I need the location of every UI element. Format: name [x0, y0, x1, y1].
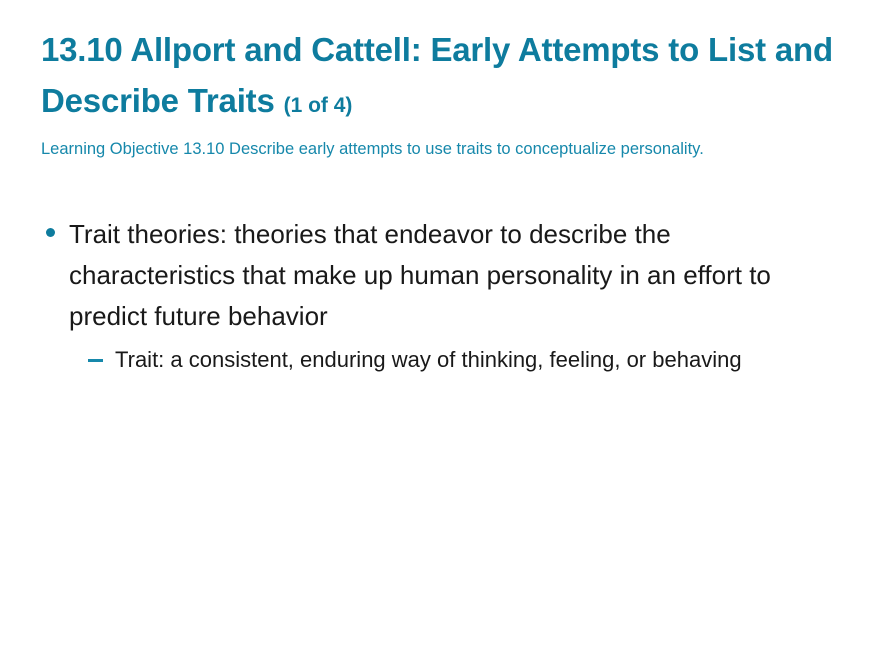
dot-bullet-icon [46, 228, 55, 237]
slide-count-label: (1 of 4) [284, 94, 353, 117]
learning-objective-text: Learning Objective 13.10 Describe early … [41, 136, 813, 163]
list-item: Trait: a consistent, enduring way of thi… [41, 343, 841, 378]
list-item-label: Trait: a consistent, enduring way of thi… [115, 343, 823, 378]
page-title-text: 13.10 Allport and Cattell: Early Attempt… [41, 31, 842, 119]
list-item-label: Trait theories: theories that endeavor t… [69, 214, 829, 337]
slide-canvas: 13.10 Allport and Cattell: Early Attempt… [0, 0, 880, 660]
dash-bullet-icon [88, 359, 103, 362]
list-item: Trait theories: theories that endeavor t… [41, 214, 841, 337]
body-content: Trait theories: theories that endeavor t… [41, 214, 841, 378]
title-block: 13.10 Allport and Cattell: Early Attempt… [41, 24, 841, 126]
page-title: 13.10 Allport and Cattell: Early Attempt… [41, 24, 841, 126]
